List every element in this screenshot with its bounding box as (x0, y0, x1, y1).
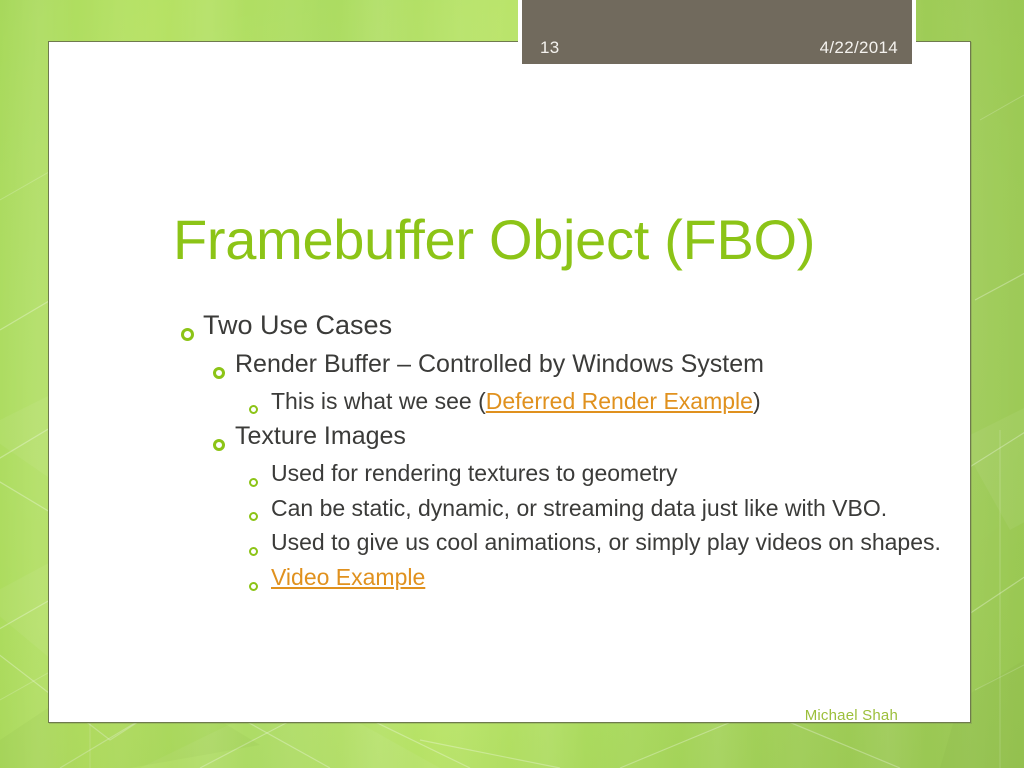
list-item-text-before: This is what we see ( (271, 388, 486, 414)
author-signature: Michael Shah (805, 707, 898, 724)
list-item-label: Render Buffer – Controlled by Windows Sy… (235, 348, 961, 381)
bullet-list: Two Use Cases Render Buffer – Controlled… (181, 308, 961, 597)
list-item: This is what we see (Deferred Render Exa… (249, 386, 961, 419)
bullet-ring-icon (249, 527, 271, 560)
list-item-label: Can be static, dynamic, or streaming dat… (271, 493, 961, 523)
list-item: Video Example (249, 562, 961, 595)
bullet-ring-icon (213, 420, 235, 456)
bullet-ring-icon (249, 493, 271, 526)
slide-date: 4/22/2014 (820, 39, 898, 56)
list-item-label: Two Use Cases (203, 308, 961, 343)
list-item-label: This is what we see (Deferred Render Exa… (271, 386, 961, 416)
list-item: Two Use Cases (181, 308, 961, 346)
list-item-text-after: ) (753, 388, 761, 414)
list-item: Can be static, dynamic, or streaming dat… (249, 493, 961, 526)
video-example-link[interactable]: Video Example (271, 564, 425, 590)
slide-root: Framebuffer Object (FBO) Two Use Cases R… (0, 0, 1024, 768)
page-title: Framebuffer Object (FBO) (173, 210, 815, 269)
bullet-ring-icon (181, 308, 203, 346)
list-item: Used for rendering textures to geometry (249, 458, 961, 491)
deferred-render-example-link[interactable]: Deferred Render Example (486, 388, 753, 414)
list-item: Texture Images (213, 420, 961, 456)
content-panel: Framebuffer Object (FBO) Two Use Cases R… (48, 41, 971, 723)
slide-number: 13 (540, 39, 560, 56)
list-item-label: Video Example (271, 562, 961, 592)
list-item: Used to give us cool animations, or simp… (249, 527, 961, 560)
list-item-label: Texture Images (235, 420, 961, 453)
list-item-label: Used for rendering textures to geometry (271, 458, 961, 488)
list-item-label: Used to give us cool animations, or simp… (271, 527, 961, 557)
bullet-ring-icon (249, 386, 271, 419)
slide-header-bar: 13 4/22/2014 (518, 0, 916, 68)
bullet-ring-icon (249, 562, 271, 595)
bullet-ring-icon (213, 348, 235, 384)
bullet-ring-icon (249, 458, 271, 491)
list-item: Render Buffer – Controlled by Windows Sy… (213, 348, 961, 384)
